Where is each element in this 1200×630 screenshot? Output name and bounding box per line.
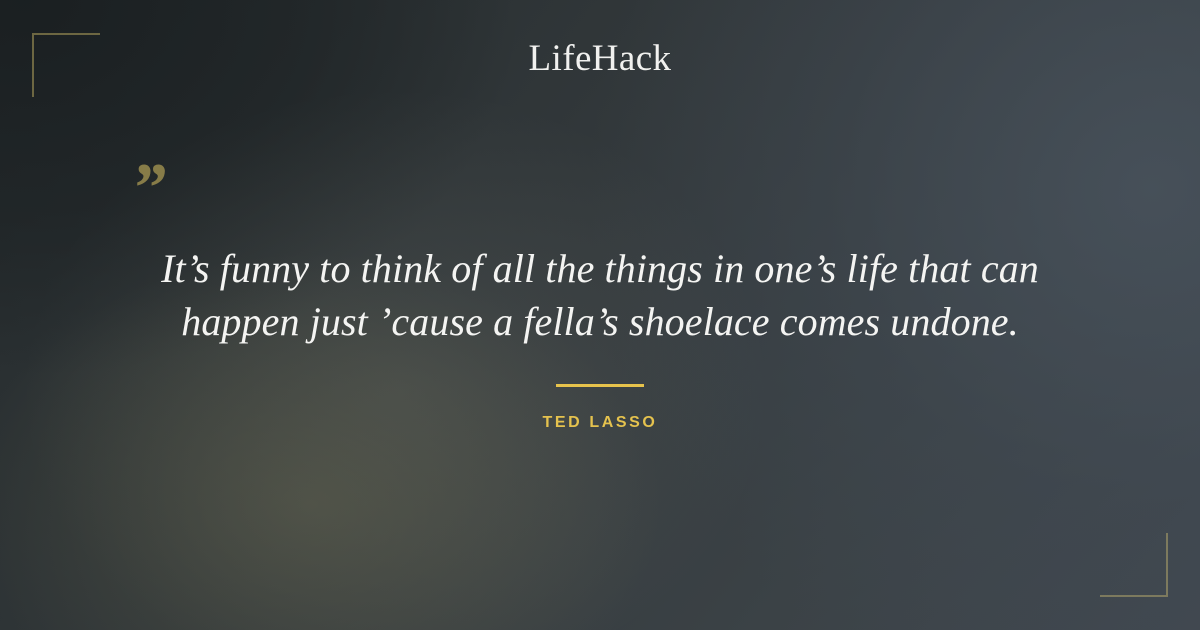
quote-card: LifeHack ” It’s funny to think of all th… [0,0,1200,630]
quote-attribution: TED LASSO [0,415,1200,431]
corner-bracket-bottom-right [1100,533,1168,597]
quote-text: It’s funny to think of all the things in… [140,242,1060,348]
divider-rule [556,384,644,387]
quotation-mark-icon: ” [131,154,166,224]
brand-logo: LifeHack [0,40,1200,77]
